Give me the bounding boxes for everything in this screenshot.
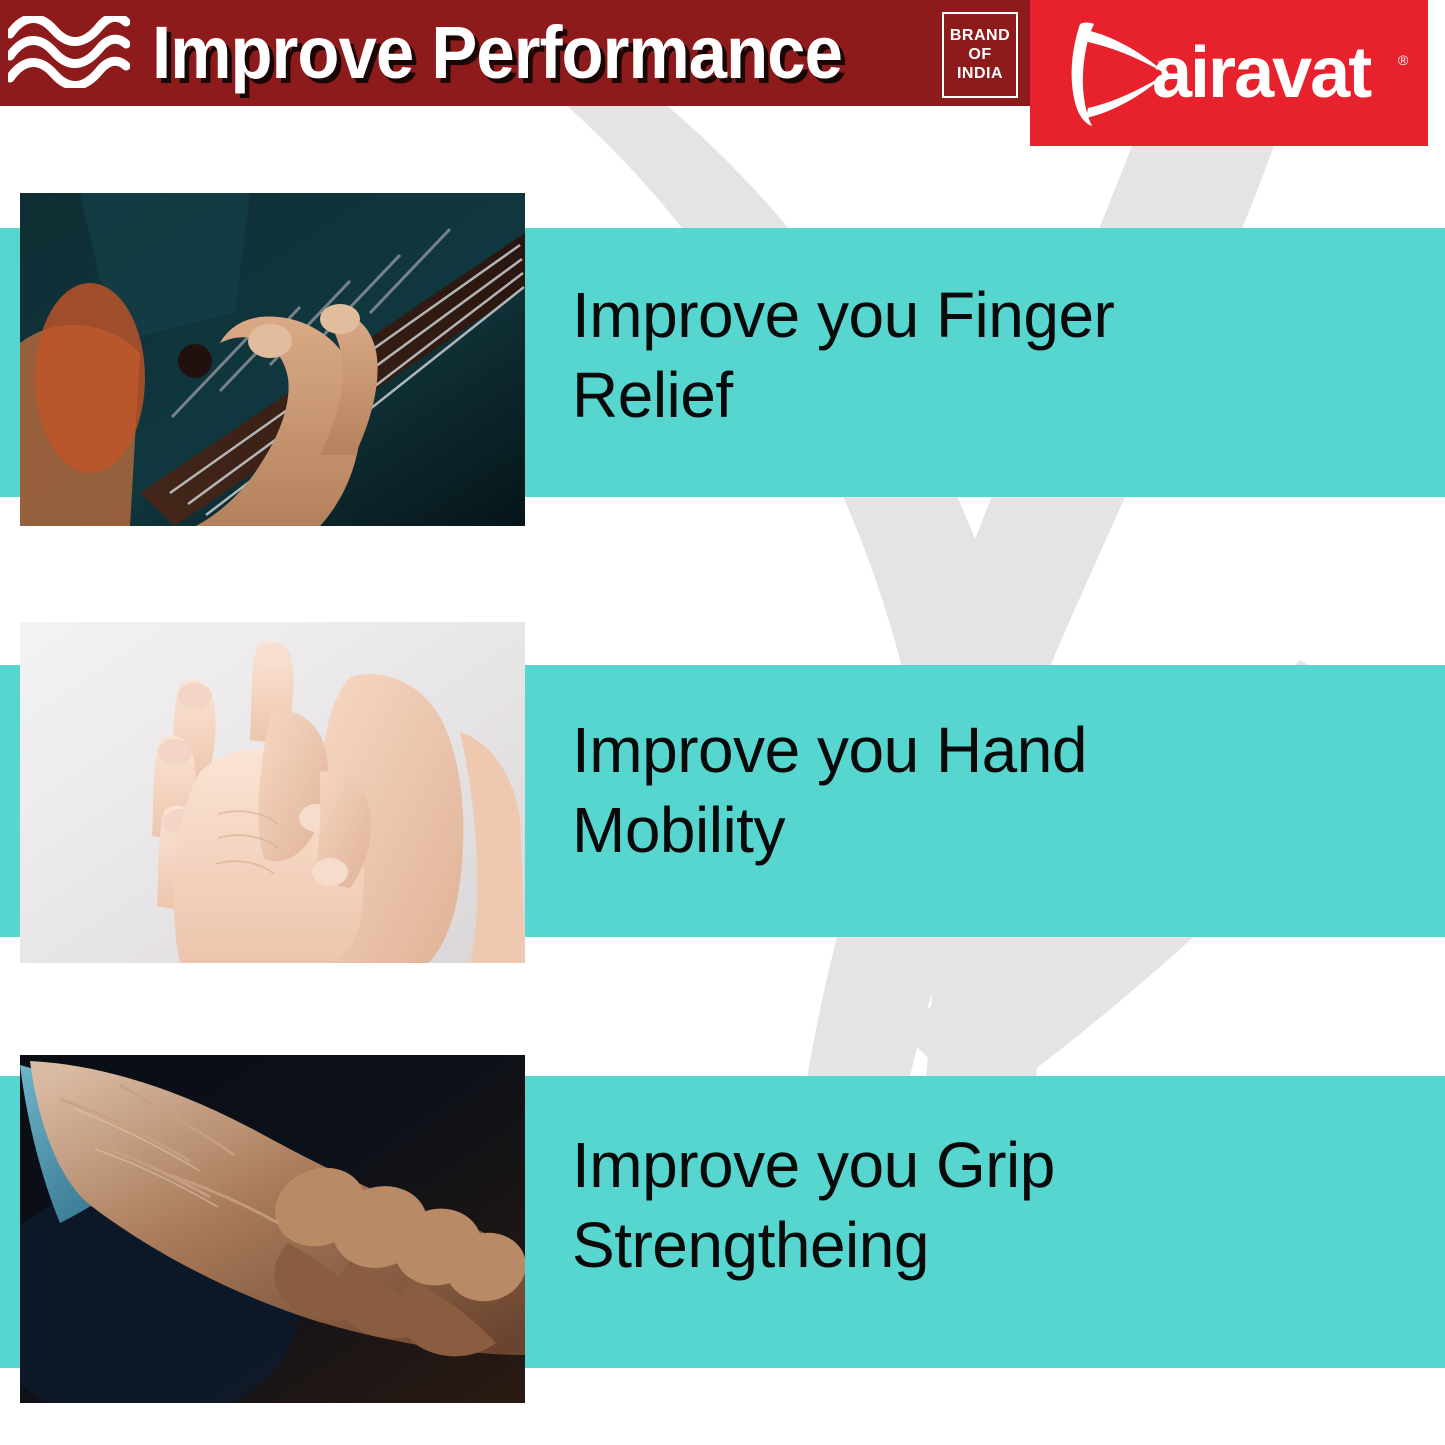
page-title: Improve Performance <box>152 8 842 98</box>
page-header: Improve Performance BRAND OF INDIA airav… <box>0 0 1445 146</box>
grip-strengthening-photo <box>20 1055 525 1403</box>
finger-relief-photo <box>20 193 525 526</box>
hand-mobility-photo <box>20 622 525 963</box>
wave-lines-icon <box>8 16 130 88</box>
caption-line-2: Strengtheing <box>572 1205 1055 1285</box>
airavat-logo[interactable]: airavat ® <box>1030 0 1428 146</box>
brand-of-india-badge: BRAND OF INDIA <box>942 12 1018 98</box>
registered-trademark-icon: ® <box>1398 52 1408 68</box>
feature-caption: Improve you Finger Relief <box>572 275 1114 435</box>
airavat-wordmark: airavat <box>1152 30 1370 116</box>
badge-line-3: INDIA <box>957 65 1003 83</box>
feature-caption: Improve you Grip Strengtheing <box>572 1125 1055 1285</box>
caption-line-1: Improve you Grip <box>572 1125 1055 1205</box>
badge-line-1: BRAND <box>950 27 1010 45</box>
badge-line-2: OF <box>968 46 991 64</box>
feature-caption: Improve you Hand Mobility <box>572 710 1087 870</box>
caption-line-1: Improve you Finger <box>572 275 1114 355</box>
caption-line-2: Relief <box>572 355 1114 435</box>
caption-line-2: Mobility <box>572 790 1087 870</box>
caption-line-1: Improve you Hand <box>572 710 1087 790</box>
